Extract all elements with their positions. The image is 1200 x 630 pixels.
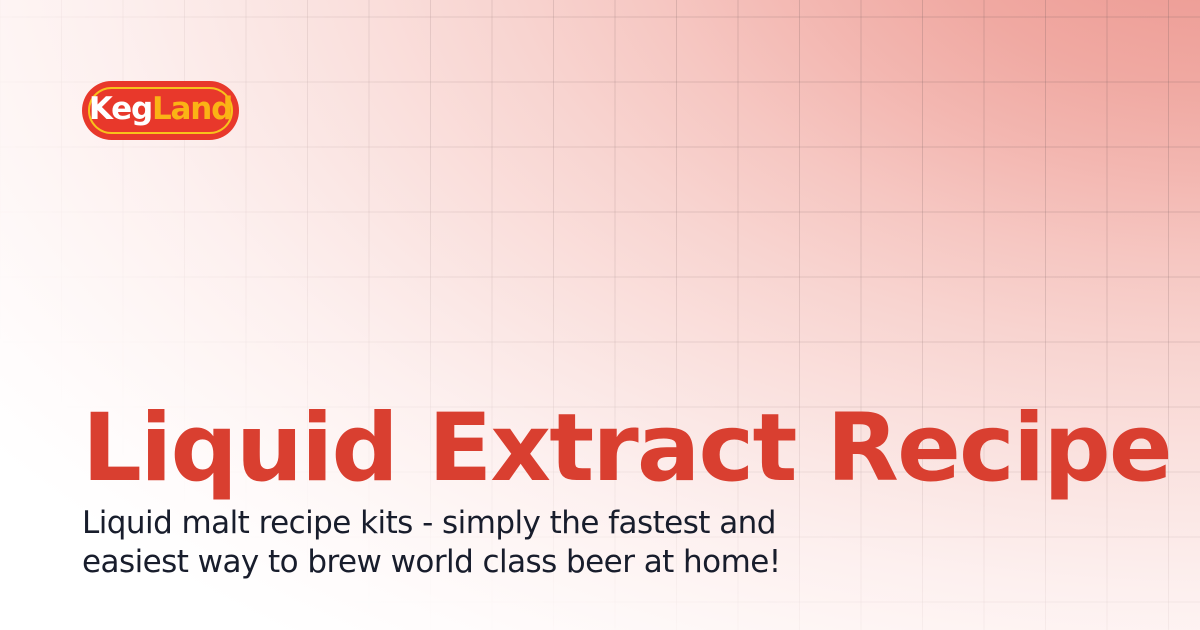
page-subtitle: Liquid malt recipe kits - simply the fas… — [82, 504, 862, 582]
kegland-logo[interactable]: KegLand — [82, 81, 239, 140]
page-title: Liquid Extract Recipe Kits — [82, 399, 1142, 499]
logo-word-land: Land — [152, 94, 232, 125]
page-subtitle-line-2: easiest way to brew world class beer at … — [82, 543, 862, 582]
kegland-hero-banner: KegLand Liquid Extract Recipe Kits Liqui… — [0, 0, 1200, 630]
logo-wordmark: KegLand — [82, 81, 239, 140]
logo-word-keg: Keg — [89, 94, 152, 125]
page-subtitle-line-1: Liquid malt recipe kits - simply the fas… — [82, 504, 862, 543]
